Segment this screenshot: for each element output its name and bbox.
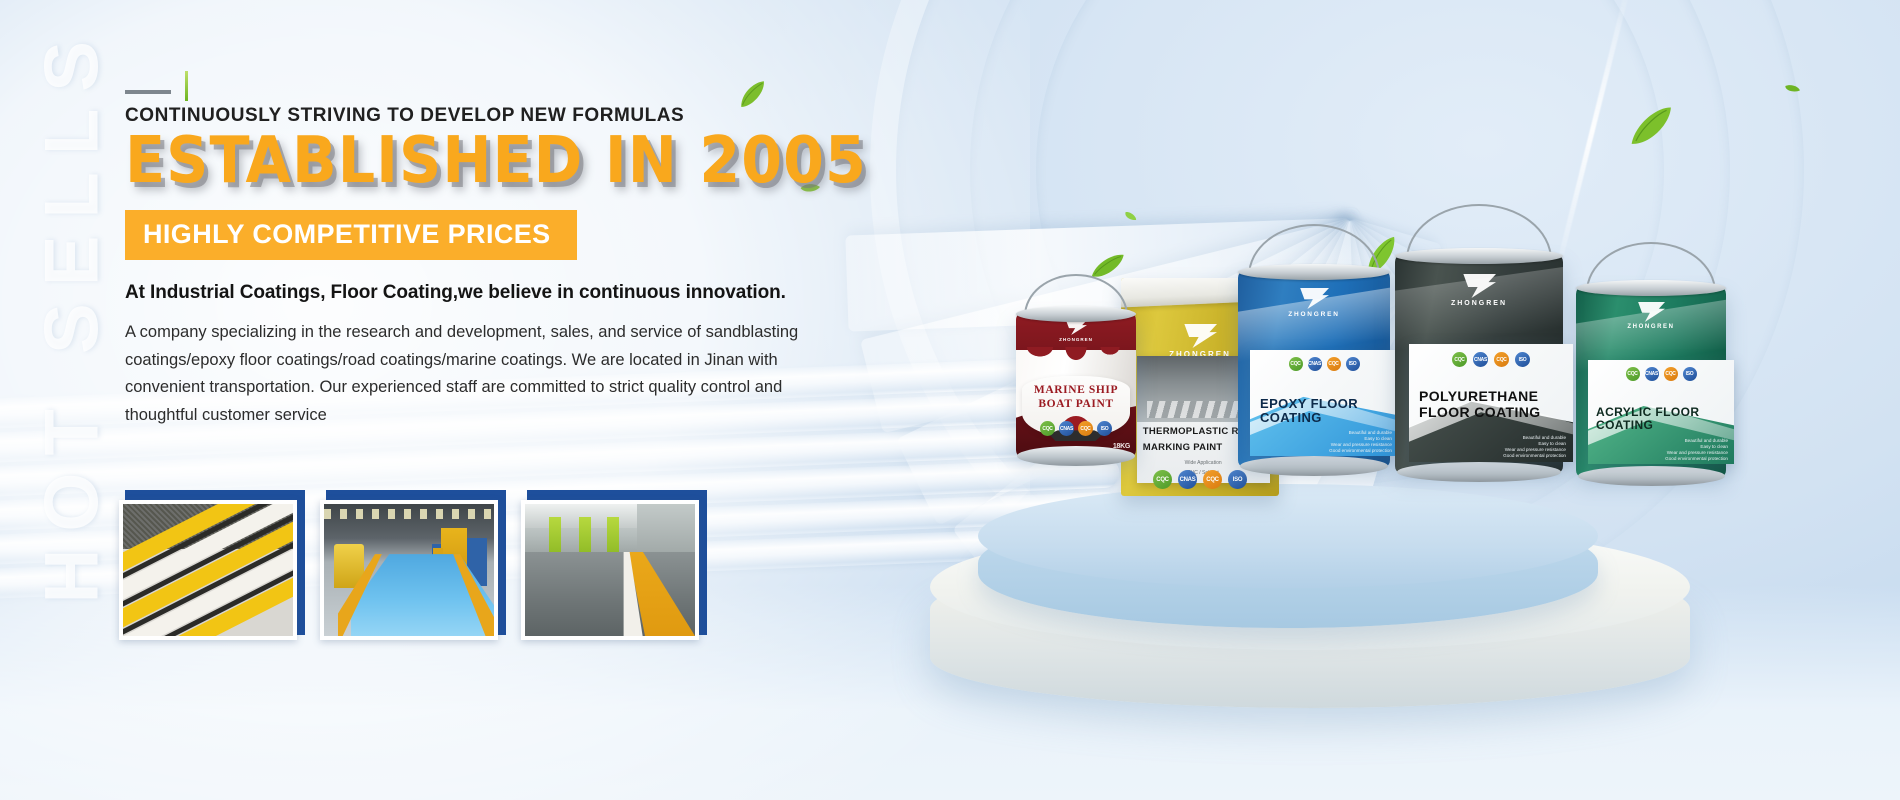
product-bullet: Wear and pressure resistance [1244,441,1392,448]
brand-logo-zhongren: ZHONGREN [1238,288,1390,318]
label-wave-graphic [1588,400,1734,464]
thumbnail-strip [125,490,707,635]
pipe-band [0,423,1119,498]
ceiling-lights [324,509,494,519]
badge-cqc-green-icon: CQC [1040,421,1055,436]
product-bullet: Wide Application [1137,460,1270,467]
fan-blade [860,218,1373,433]
product-podium [930,500,1690,705]
label-swoosh-graphic [1409,370,1573,462]
brand-logo-zhongren: ZHONGREN [1395,274,1563,307]
product-bullet: Beautiful and durable [1582,437,1728,444]
background-arc-small [1020,0,1680,500]
product-bullet: Good environmental protection [1244,447,1392,454]
product-bullet: Easy to clean [1402,440,1566,447]
product-thermoplastic-road-marking-paint[interactable]: ZHONGREN THERMOPLASTIC ROAD MARKING PAIN… [1121,278,1279,496]
promo-banner: ZHONGREN THERMOPLASTIC ROAD MARKING PAIN… [0,0,1900,800]
badge-iso-icon: ISO [1683,367,1697,381]
product-weight: 25KG [1690,454,1718,466]
certification-badges: CQC CNAS CQC ISO [1409,352,1573,367]
can-lid [1238,264,1390,280]
badge-cqc-green-icon: CQC [1153,470,1172,489]
can-handle [1248,224,1380,276]
leaf-icon [1087,253,1128,281]
sun-graphic-icon [1061,416,1091,431]
leaf-icon [1123,208,1138,225]
decor-green-tick [185,71,188,101]
body-text: A company specializing in the research a… [125,319,800,429]
label-wave-graphic [1250,390,1398,456]
can-label-panel: CQC CNAS CQC ISO ACRYLIC FLOOR COATING B… [1588,360,1734,464]
badge-cqc-green-icon: CQC [1626,367,1640,381]
product-title-line-1: MARINE SHIP [1022,384,1130,396]
thumbnail-frame [320,500,498,640]
fan-blade [896,218,1392,526]
can-base [1578,466,1725,486]
product-bullet: Easy to clean [1582,443,1728,450]
product-title-line-1: EPOXY FLOOR COATING [1260,397,1398,425]
badge-cqc-orange-icon: CQC [1664,367,1678,381]
brand-name: ZHONGREN [1121,350,1279,359]
can-body: ZHONGREN MARINE SHIP BOAT PAINT CQC CNAS… [1016,314,1136,456]
product-title-line-2: FLOOR COATING [1419,405,1541,420]
badge-iso-icon: ISO [1515,352,1530,367]
can-handle [1406,204,1552,260]
badge-cnas-icon: CNAS [1308,357,1322,371]
product-bullet: Good environmental protection [1402,452,1566,459]
brand-name: ZHONGREN [1395,300,1563,307]
can-handle [1586,242,1716,292]
thumbnail-frame [119,500,297,640]
can-base [1017,446,1135,466]
can-lid [1016,306,1136,322]
can-handle [1024,274,1128,316]
badge-iso-icon: ISO [1097,421,1112,436]
thumbnail-image-road-marking [123,504,293,636]
thumbnail-industrial-epoxy-floor[interactable] [326,490,506,635]
product-weight: 25KG [1524,447,1554,461]
zhongren-mark-icon [1183,324,1217,348]
leaf-icon [1623,105,1681,150]
badge-cqc-green-icon: CQC [1289,357,1303,371]
product-bullet: Beautiful and durable [1402,434,1566,441]
product-polyurethane-floor-coating[interactable]: ZHONGREN 25KG CQC CNAS CQC ISO POLYURETH… [1395,248,1563,482]
product-bullet: Wear and pressure resistance [1582,449,1728,456]
can-body: ZHONGREN 25KG [1395,256,1563,472]
page-title: ESTABLISHED IN 2005 [125,129,921,194]
bag-seal-top [1121,278,1279,308]
zhongren-mark-icon [1065,320,1087,335]
badge-cqc-orange-icon: CQC [1327,357,1341,371]
zhongren-mark-icon [1299,288,1329,309]
brand-logo-zhongren: ZHONGREN [1121,324,1279,359]
thumbnail-frame [521,500,699,640]
label-wave-graphic [1409,394,1573,462]
badge-iso-icon: ISO [1346,357,1360,371]
certification-badges: CQC CNAS CQC ISO [1016,421,1136,436]
heading-decoration [125,64,905,106]
product-epoxy-floor-coating[interactable]: ZHONGREN 25KG CQC CNAS CQC ISO EPOXY FLO… [1238,264,1390,476]
product-title-line-2: MARKING PAINT [1143,442,1223,453]
copy-block: CONTINUOUSLY STRIVING TO DEVELOP NEW FOR… [125,64,905,429]
badge-cnas-icon: CNAS [1645,367,1659,381]
hot-sells-watermark: HOT SELLS [29,44,116,604]
label-swoosh-graphic [1588,385,1734,464]
certification-badges: CQC CNAS CQC ISO [1588,367,1734,381]
thumbnail-image-epoxy-floor [324,504,494,636]
can-body: ZHONGREN 25KG [1238,272,1390,466]
boat-graphic-icon [1049,428,1103,441]
can-body: ZHONGREN 25KG [1576,288,1726,476]
badge-cqc-orange-icon: CQC [1494,352,1509,367]
brand-name: ZHONGREN [1238,311,1390,318]
product-bullet: Beautiful and durable [1244,429,1392,436]
background-light-streak [1554,0,1631,276]
can-label-panel: CQC CNAS CQC ISO POLYURETHANE FLOOR COAT… [1409,344,1573,462]
brand-logo-zhongren: ZHONGREN [1016,320,1136,342]
product-title-line-1: ACRYLIC FLOOR COATING [1596,406,1734,432]
product-title-line-1: POLYURETHANE [1419,389,1538,404]
can-highlight [1576,296,1726,374]
thumbnail-road-marking[interactable] [125,490,305,635]
can-highlight [1238,284,1390,364]
fan-blade [845,218,1353,332]
product-acrylic-floor-coating[interactable]: ZHONGREN 25KG CQC CNAS CQC ISO ACRYLIC F… [1576,280,1726,486]
paint-drip-decoration [1024,347,1136,375]
zhongren-mark-icon [1462,274,1496,298]
can-lid [1576,280,1726,296]
product-bullet: PVC / Solvent [1137,470,1270,477]
thumbnail-image-garage-floor [525,504,695,636]
product-bullet: Good environmental protection [1582,455,1728,462]
thumbnail-parking-garage-floor[interactable] [527,490,707,635]
lede-text: At Industrial Coatings, Floor Coating,we… [125,282,905,304]
product-weight: 25KG [1354,444,1382,456]
can-highlight [1395,263,1563,353]
price-highlight-text: HIGHLY COMPETITIVE PRICES [143,219,551,249]
can-lid [1395,248,1563,264]
badge-cqc-green-icon: CQC [1452,352,1467,367]
product-title-line-2: BOAT PAINT [1022,398,1130,410]
brand-logo-zhongren: ZHONGREN [1576,302,1726,330]
can-base [1240,456,1389,476]
can-bottom-band [1016,398,1136,456]
badge-cnas-icon: CNAS [1059,421,1074,436]
price-highlight-bar: HIGHLY COMPETITIVE PRICES [125,210,577,260]
bag-label-panel: THERMOPLASTIC ROAD MARKING PAINT Wide Ap… [1137,356,1270,482]
certification-badges: CQC CNAS CQC ISO [1250,357,1398,371]
product-weight: 18KG [1113,443,1130,450]
can-base [1397,462,1562,482]
can-label-panel: CQC CNAS CQC ISO EPOXY FLOOR COATING Bea… [1250,350,1398,456]
product-bullet: Wear and pressure resistance [1402,446,1566,453]
product-marine-ship-boat-paint[interactable]: ZHONGREN MARINE SHIP BOAT PAINT CQC CNAS… [1016,306,1136,466]
leaf-icon [1357,235,1406,279]
label-swoosh-graphic [1250,375,1398,456]
product-bullet: Easy to clean [1244,435,1392,442]
podium-upper-tier-top [978,484,1598,588]
leaf-icon [1783,80,1802,98]
label-photo-roadwork [1137,356,1270,422]
can-top-band [1016,314,1136,350]
product-title-line-1: THERMOPLASTIC ROAD [1143,426,1261,437]
decor-dash-line [125,90,171,94]
brand-name: ZHONGREN [1576,324,1726,330]
zhongren-mark-icon [1637,302,1665,322]
brand-name: ZHONGREN [1016,337,1136,342]
bag-body: ZHONGREN THERMOPLASTIC ROAD MARKING PAIN… [1121,278,1279,496]
badge-cqc-orange-icon: CQC [1078,421,1093,436]
can-label-panel: MARINE SHIP BOAT PAINT [1022,376,1130,438]
badge-cnas-icon: CNAS [1473,352,1488,367]
